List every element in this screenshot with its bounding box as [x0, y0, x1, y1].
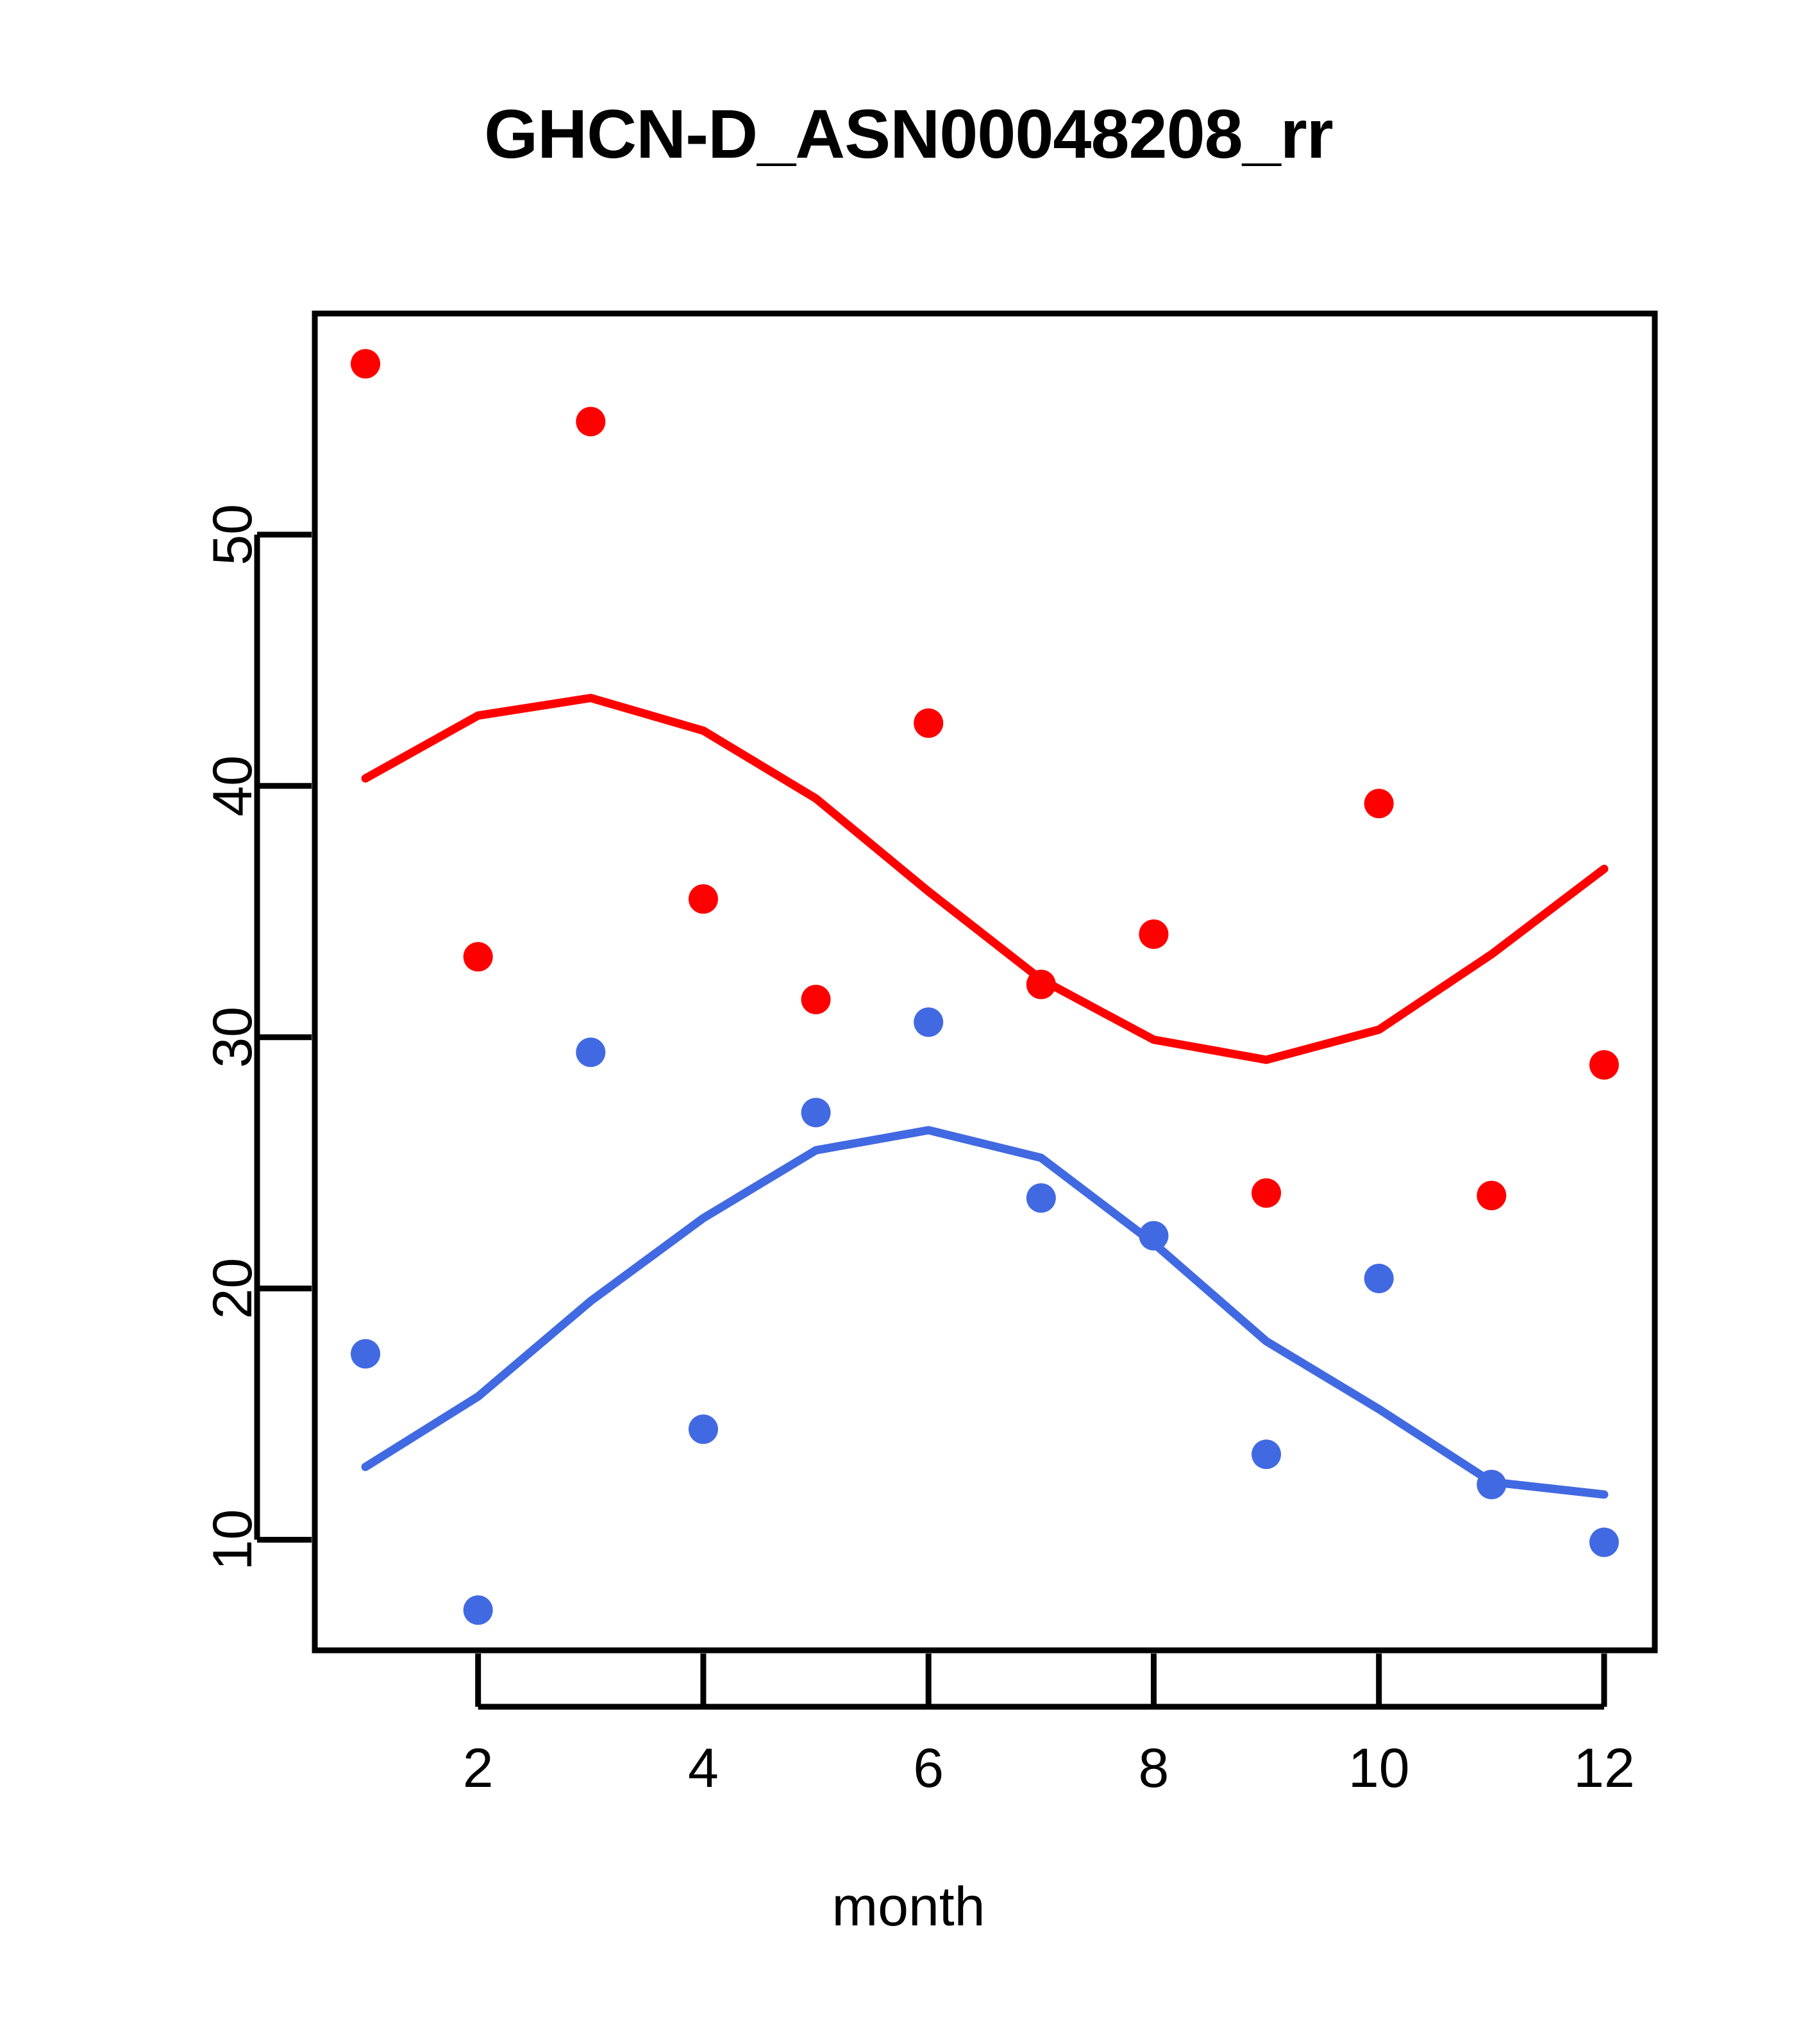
scatter-plot-svg: 1020304050 24681012 [0, 0, 1817, 2044]
y-tick-label-10: 10 [202, 1509, 264, 1571]
data-point [689, 1414, 718, 1444]
y-tick-label-40: 40 [202, 755, 264, 817]
y-tick-label-30: 30 [202, 1007, 264, 1068]
data-point [1477, 1470, 1506, 1499]
data-point [1252, 1439, 1281, 1469]
data-point [1364, 789, 1394, 818]
data-point [801, 1098, 831, 1127]
data-point [801, 985, 831, 1014]
data-point [1589, 1050, 1619, 1080]
x-tick-label-4: 4 [688, 1738, 719, 1799]
data-point [576, 407, 605, 437]
data-point [1589, 1527, 1619, 1557]
x-axis-label: month [0, 1875, 1817, 1939]
x-tick-label-6: 6 [913, 1738, 944, 1799]
blue-points [351, 1007, 1619, 1625]
data-point [1139, 919, 1168, 949]
data-point [464, 1595, 493, 1625]
data-points [351, 349, 1619, 1625]
y-tick-label-50: 50 [202, 504, 264, 565]
data-point [576, 1037, 605, 1067]
data-point [689, 884, 718, 914]
data-point [1139, 1221, 1168, 1250]
x-tick-label-12: 12 [1573, 1738, 1635, 1799]
red-smooth-line [365, 698, 1604, 1060]
y-tick-label-20: 20 [202, 1258, 264, 1319]
red-points [351, 349, 1619, 1210]
data-point [351, 1339, 380, 1369]
x-tick-label-8: 8 [1139, 1738, 1169, 1799]
y-axis: 1020304050 [202, 504, 312, 1570]
data-point [351, 349, 380, 378]
blue-smooth-line [365, 1130, 1604, 1495]
data-point [1477, 1181, 1506, 1210]
data-point [1364, 1264, 1394, 1293]
x-tick-label-10: 10 [1348, 1738, 1410, 1799]
x-tick-label-2: 2 [463, 1738, 494, 1799]
data-point [1026, 1184, 1056, 1213]
data-point [464, 942, 493, 971]
data-point [1026, 969, 1056, 999]
data-point [914, 1007, 943, 1037]
chart-canvas: GHCN-D_ASN00048208_rr 1020304050 2468101… [0, 0, 1817, 2044]
data-point [914, 708, 943, 738]
x-axis: 24681012 [463, 1654, 1635, 1799]
data-point [1252, 1178, 1281, 1208]
trend-lines [365, 698, 1604, 1495]
